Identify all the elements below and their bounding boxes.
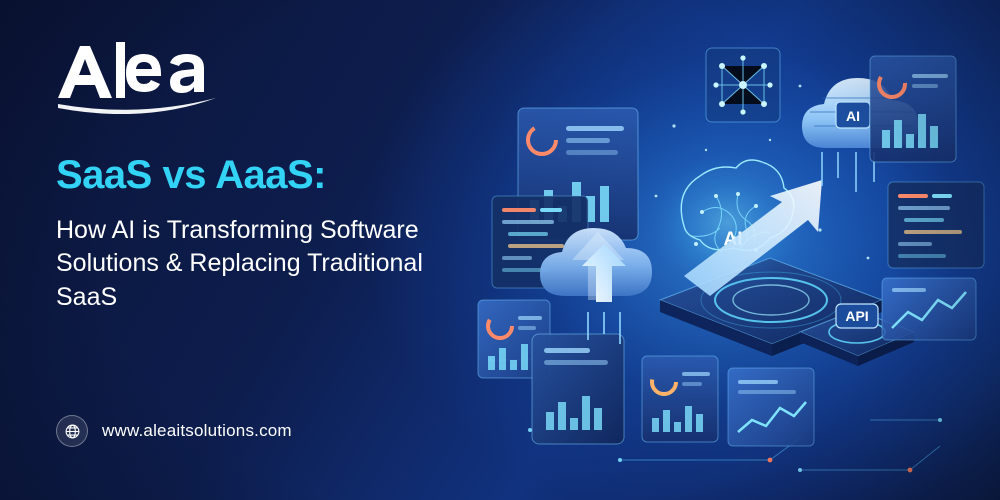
code-panel-right: [888, 182, 984, 268]
chart-panel-right: [882, 278, 976, 340]
website-url[interactable]: www.aleaitsolutions.com: [102, 421, 292, 441]
ai-cloud-technology-illustration: AI AI: [470, 0, 1000, 500]
dashboard-panel-bottom: [532, 334, 624, 444]
page-title: SaaS vs AaaS:: [56, 154, 486, 196]
dashboard-panel-mid2: [728, 368, 814, 446]
cloud-label: AI: [846, 108, 860, 124]
banner: AI AI: [0, 0, 1000, 500]
page-subtitle: How AI is Transforming Software Solution…: [56, 214, 486, 314]
dashboard-panel-right: [870, 56, 956, 162]
alea-logo: [56, 40, 256, 114]
content-column: SaaS vs AaaS: How AI is Transforming Sof…: [56, 40, 486, 314]
footer-bar: www.aleaitsolutions.com: [56, 415, 292, 447]
neural-network-node: [706, 48, 780, 122]
globe-icon: [56, 415, 88, 447]
dashboard-panel-mid: [642, 356, 718, 442]
api-node-label: API: [845, 308, 868, 324]
